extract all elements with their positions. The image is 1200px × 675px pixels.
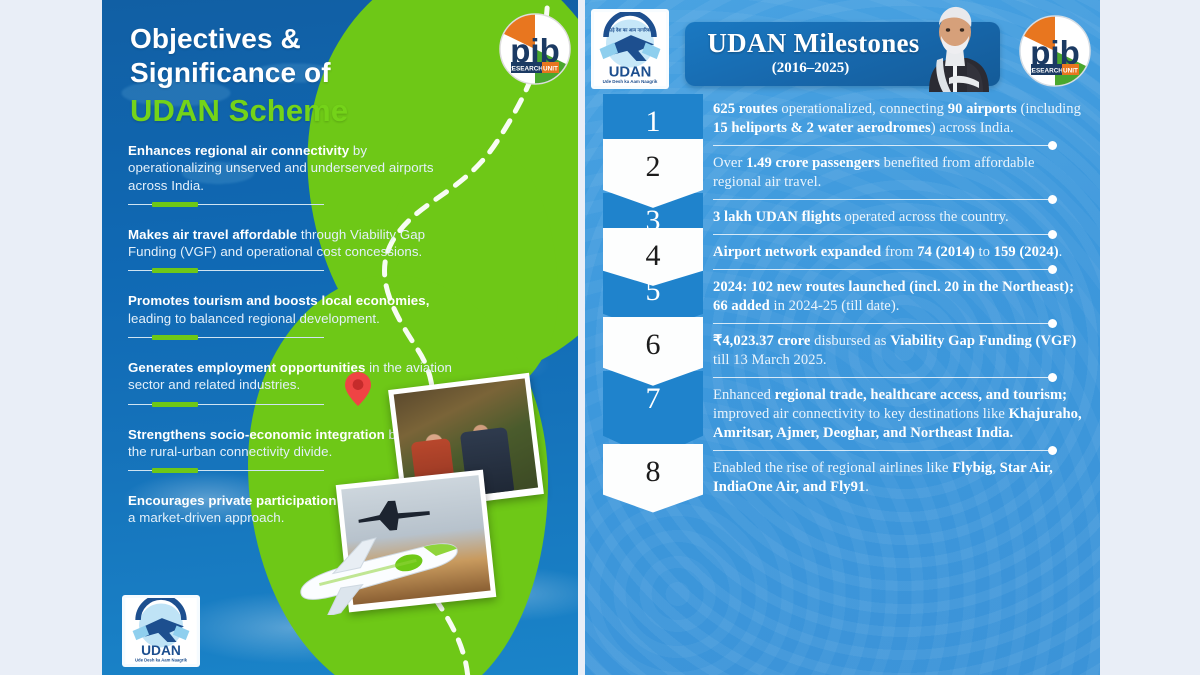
milestone-text: Over 1.49 crore passengers benefited fro… [713,154,1085,192]
svg-text:UNIT: UNIT [543,66,558,73]
milestone-text: 2024: 102 new routes launched (incl. 20 … [713,278,1085,316]
objective-detail: leading to balanced regional development… [128,311,380,326]
milestone-highlight: Viability Gap Funding (VGF) [890,333,1076,349]
milestone-number-label: 4 [646,228,661,271]
milestone-detail: (including [1017,101,1081,117]
title-accent-line: UDAN Scheme [130,92,460,130]
milestone-text: ₹4,023.37 crore disbursed as Viability G… [713,332,1085,370]
objective-highlight: Generates employment opportunities [128,360,365,375]
svg-text:RESEARCH: RESEARCH [507,66,543,73]
banner-subtitle: (2016–2025) [685,60,936,77]
left-panel-title: Objectives & Significance of UDAN Scheme [130,22,460,130]
milestone-separator [713,377,1053,378]
milestone-row: Airport network expanded from 74 (2014) … [713,234,1085,262]
objective-highlight: Strengthens socio-economic integration [128,427,385,442]
svg-text:UDAN: UDAN [141,643,181,658]
milestone-number-label: 2 [646,139,661,182]
milestone-highlight: 3 lakh UDAN flights [713,209,841,225]
airplane-illustration [278,529,474,615]
milestone-separator [713,145,1053,146]
objective-text: Enhances regional air connectivity by op… [128,142,458,194]
milestone-highlight: 90 airports [948,101,1017,117]
milestone-detail: operationalized, connecting [778,101,948,117]
milestone-separator [713,323,1053,324]
prime-minister-portrait [903,0,999,92]
milestone-highlight: 15 heliports & 2 water aerodromes [713,120,931,136]
milestone-highlight: Airport network expanded [713,244,881,260]
milestone-number-label: 6 [646,317,661,360]
milestone-highlight: 1.49 crore passengers [746,155,880,171]
milestone-number-label: 8 [646,444,661,487]
milestone-separator [713,269,1053,270]
milestone-row: Enabled the rise of regional airlines li… [713,450,1085,497]
milestone-detail: Enabled the rise of regional airlines li… [713,460,952,476]
milestone-row: ₹4,023.37 crore disbursed as Viability G… [713,323,1085,370]
milestone-detail: disbursed as [810,333,890,349]
milestone-text: Airport network expanded from 74 (2014) … [713,243,1085,262]
objective-text: Promotes tourism and boosts local econom… [128,292,458,327]
udan-logo: UDAN Ude Desh ka Aam Naagrik [122,595,200,667]
svg-text:उड़े देश का आम नागरिक: उड़े देश का आम नागरिक [609,26,651,32]
milestone-number-column: 12345678 [603,105,703,665]
milestone-detail: ) across India. [931,120,1014,136]
milestone-text: Enhanced regional trade, healthcare acce… [713,386,1085,443]
milestone-highlight: 74 (2014) [917,244,975,260]
left-panel-objectives: pib RESEARCH UNIT Objectives & Significa… [102,0,578,675]
milestone-row: 3 lakh UDAN flights operated across the … [713,199,1085,227]
objective-item: Promotes tourism and boosts local econom… [128,292,458,359]
udan-logo: उड़े देश का आम नागरिक UDAN Ude Desh ka A… [591,9,669,89]
milestone-highlight: regional trade, healthcare access, and t… [775,387,1067,403]
objective-highlight: Makes air travel affordable [128,227,297,242]
milestone-text: Enabled the rise of regional airlines li… [713,459,1085,497]
svg-text:UNIT: UNIT [1063,68,1078,75]
milestone-detail: to [975,244,994,260]
milestone-detail: in 2024-25 (till date). [770,298,900,314]
milestone-detail: improved air connectivity to key destina… [713,406,1009,422]
pib-research-unit-logo: pib RESEARCH UNIT [498,12,572,86]
milestone-text: 3 lakh UDAN flights operated across the … [713,208,1085,227]
svg-text:Ude Desh ka Aam Naagrik: Ude Desh ka Aam Naagrik [603,79,658,84]
pib-research-unit-logo: pib RESEARCH UNIT [1018,14,1092,88]
right-panel-header: उड़े देश का आम नागरिक UDAN Ude Desh ka A… [585,0,1100,100]
objective-divider [128,337,324,338]
milestone-number-8: 8 [603,444,703,513]
infographic-stage: pib RESEARCH UNIT Objectives & Significa… [0,0,1200,675]
milestone-highlight: ₹4,023.37 crore [713,333,810,349]
milestone-detail: Enhanced [713,387,775,403]
milestone-text-column: 625 routes operationalized, connecting 9… [713,100,1085,497]
milestone-row: 625 routes operationalized, connecting 9… [713,100,1085,138]
milestone-separator [713,199,1053,200]
objective-text: Makes air travel affordable through Viab… [128,226,458,261]
milestone-separator [713,450,1053,451]
svg-text:RESEARCH: RESEARCH [1027,68,1063,75]
objective-divider [128,470,324,471]
title-line-2: Significance of [130,56,460,90]
milestone-detail: . [1059,244,1063,260]
milestone-number-label: 1 [646,94,661,137]
objective-divider [128,204,324,205]
milestone-row: Over 1.49 crore passengers benefited fro… [713,145,1085,192]
objective-highlight: Encourages private participation [128,493,337,508]
milestone-detail: till 13 March 2025. [713,352,827,368]
milestone-highlight: 625 routes [713,101,778,117]
svg-text:Ude Desh ka Aam Naagrik: Ude Desh ka Aam Naagrik [135,657,188,662]
milestone-highlight: 159 (2024) [994,244,1059,260]
objective-item: Makes air travel affordable through Viab… [128,226,458,293]
title-line-1: Objectives & [130,22,460,56]
milestone-row: Enhanced regional trade, healthcare acce… [713,377,1085,443]
milestones-list: 12345678 625 routes operationalized, con… [585,100,1100,675]
milestone-detail: operated across the country. [841,209,1009,225]
milestone-row: 2024: 102 new routes launched (incl. 20 … [713,269,1085,316]
milestone-separator [713,234,1053,235]
milestone-text: 625 routes operationalized, connecting 9… [713,100,1085,138]
milestone-detail: from [881,244,917,260]
milestone-detail: Over [713,155,746,171]
right-panel-milestones: उड़े देश का आम नागरिक UDAN Ude Desh ka A… [585,0,1100,675]
objective-divider [128,270,324,271]
objective-highlight: Promotes tourism and boosts local econom… [128,293,429,308]
objective-highlight: Enhances regional air connectivity [128,143,349,158]
objective-divider [128,404,324,405]
objective-item: Enhances regional air connectivity by op… [128,142,458,226]
milestone-detail: . [865,479,869,495]
